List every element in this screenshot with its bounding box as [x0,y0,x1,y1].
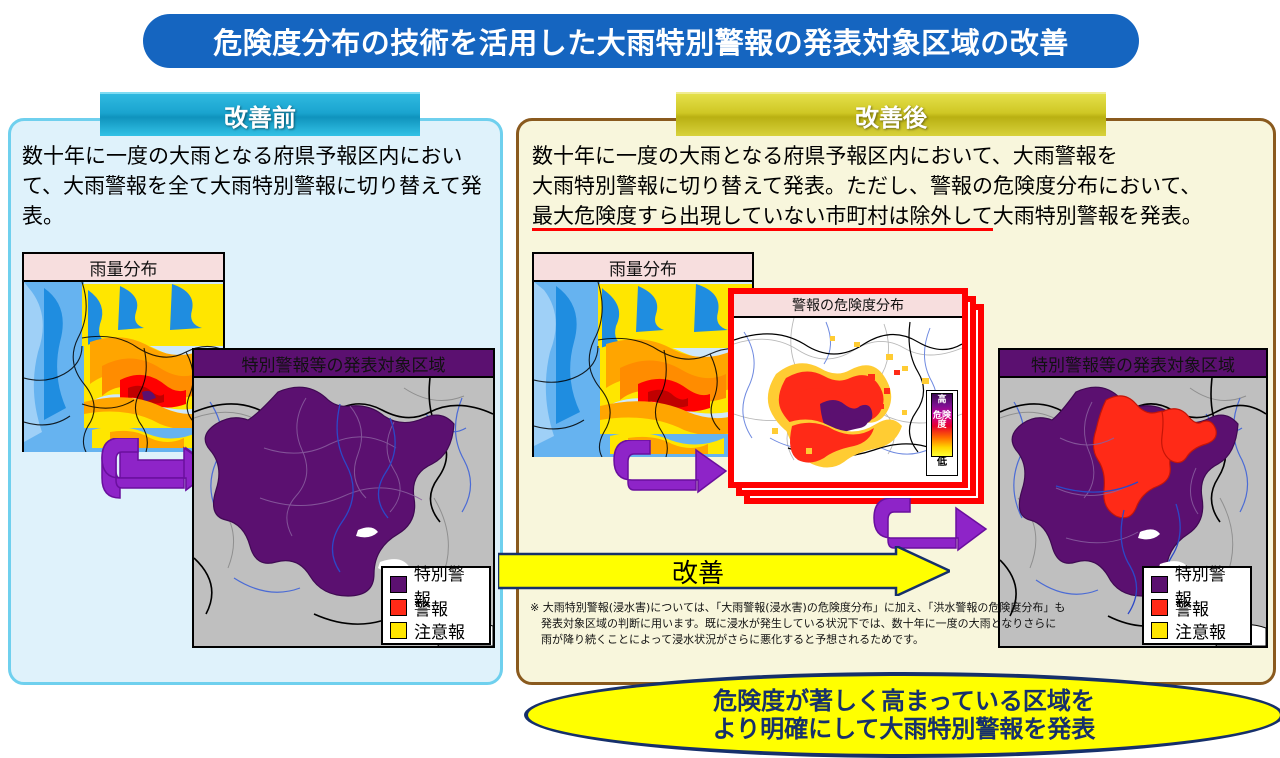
legend-swatch-warning [1151,599,1168,616]
improvement-arrow: 改善 [498,546,950,596]
after-rain-map-image [534,282,752,457]
summary-callout-line2: より明確にして大雨特別警報を発表 [713,715,1096,743]
risk-scale-low-label: 低 [937,458,947,468]
footnote-line-2: 発表対象区域の判断に用います。既に浸水が発生している状況下では、数十年に一度の大… [530,616,1130,632]
risk-distribution-card-front: 警報の危険度分布 [728,288,968,488]
tab-before-label: 改善前 [224,98,296,133]
after-description: 数十年に一度の大雨となる府県予報区内において、大雨警報を 大雨特別警報に切り替え… [532,142,1262,231]
legend-row: 注意報 [1151,619,1242,642]
after-description-line2: 大雨特別警報に切り替えて発表。ただし、警報の危険度分布において、 [532,172,1262,202]
before-description: 数十年に一度の大雨となる府県予報区内において、大雨警報を全て大雨特別警報に切り替… [22,142,487,231]
after-description-line3: 最大危険度すら出現していない市町村は除外して大雨特別警報を発表。 [532,202,1262,232]
legend-label-advisory: 注意報 [414,618,465,643]
risk-map-image: 高 危険度 低 [734,318,962,480]
after-flow-arrow-1 [612,440,730,502]
legend-swatch-advisory [1151,622,1168,639]
tab-before-improvement: 改善前 [100,92,420,136]
risk-scale-bar: 高 危険度 低 [926,390,958,476]
after-area-map-caption: 特別警報等の発表対象区域 [1000,350,1266,378]
legend-label-advisory: 注意報 [1175,618,1226,643]
tab-after-improvement: 改善後 [676,92,1106,136]
risk-distribution-stack: 警報の危険度分布 [728,288,986,506]
legend-label-warning: 警報 [414,595,448,620]
legend-swatch-warning [390,599,407,616]
legend-row: 特別警報 [1151,573,1242,596]
after-footnote: ※ 大雨特別警報(浸水害)については、「大雨警報(浸水害)の危険度分布」に加え、… [530,600,1130,648]
risk-map-caption: 警報の危険度分布 [734,294,962,318]
risk-scale-high-label: 高 [932,396,952,405]
risk-scale-title: 危険度 [932,412,952,431]
improvement-arrow-label: 改善 [498,546,898,596]
legend-row: 特別警報 [390,573,481,596]
after-map-legend: 特別警報 警報 注意報 [1142,566,1252,645]
after-rain-map-card: 雨量分布 [532,252,754,457]
footnote-line-1: ※ 大雨特別警報(浸水害)については、「大雨警報(浸水害)の危険度分布」に加え、… [530,600,1130,616]
after-description-line3-rest: 大雨特別警報を発表。 [993,204,1203,228]
legend-swatch-special-warning [390,576,407,593]
risk-scale-gradient: 高 危険度 [931,393,953,457]
before-area-map-caption: 特別警報等の発表対象区域 [194,350,493,378]
before-map-legend: 特別警報 警報 注意報 [381,566,491,645]
after-description-underlined: 最大危険度すら出現していない市町村は除外して [532,204,993,232]
summary-callout: 危険度が著しく高まっている区域を より明確にして大雨特別警報を発表 [524,672,1280,758]
tab-after-label: 改善後 [855,98,927,133]
after-rain-map-caption: 雨量分布 [534,254,752,282]
legend-swatch-special-warning [1151,576,1168,593]
page-title: 危険度分布の技術を活用した大雨特別警報の発表対象区域の改善 [143,14,1139,68]
legend-label-warning: 警報 [1175,595,1209,620]
legend-row: 注意報 [390,619,481,642]
after-description-line1: 数十年に一度の大雨となる府県予報区内において、大雨警報を [532,142,1262,172]
footnote-line-3: 雨が降り続くことによって浸水状況がさらに悪化すると予想されるためです。 [530,632,1130,648]
before-rain-map-caption: 雨量分布 [24,254,223,282]
summary-callout-line1: 危険度が著しく高まっている区域を [713,687,1095,715]
page-title-text: 危険度分布の技術を活用した大雨特別警報の発表対象区域の改善 [213,20,1069,62]
legend-swatch-advisory [390,622,407,639]
